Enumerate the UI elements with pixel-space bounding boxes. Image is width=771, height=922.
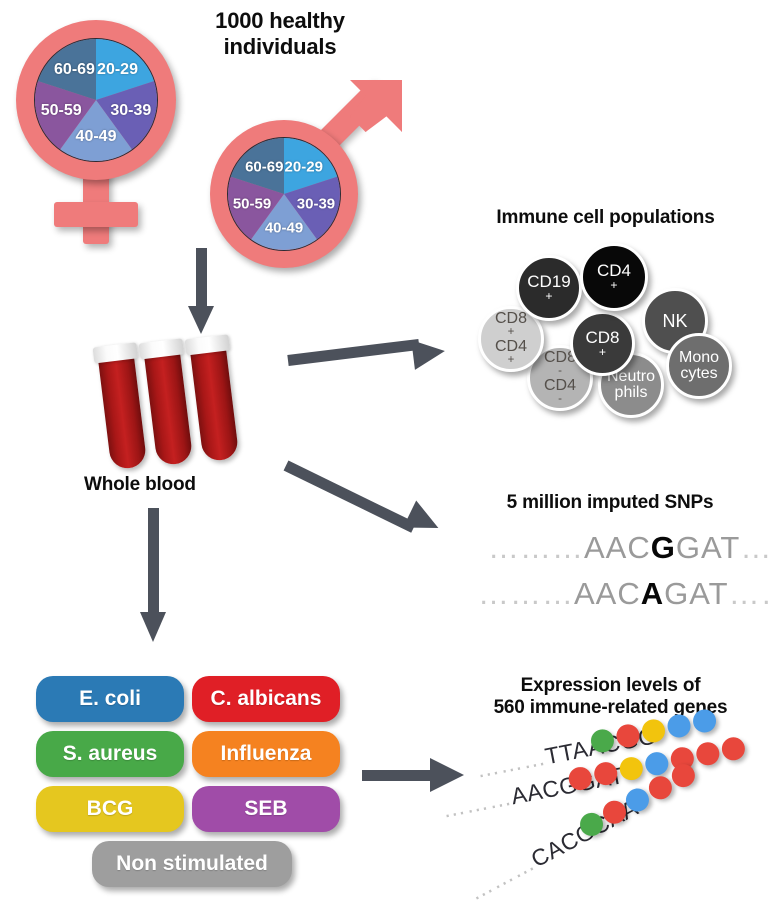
- snp-ellipsis-left: ………: [488, 530, 584, 565]
- snp-variant-allele: A: [641, 576, 664, 611]
- snp-ellipsis-right: ………: [740, 530, 771, 565]
- snps-title: 5 million imputed SNPs: [450, 492, 770, 514]
- immune-cell-monocytes: Monocytes: [666, 333, 732, 399]
- immune-cell-line: CD19+: [527, 273, 570, 303]
- figure-canvas: 1000 healthyindividuals 20-2930-3940-495…: [0, 0, 771, 922]
- sequence-ellipsis: ………: [440, 784, 514, 823]
- snp-suffix: GAT: [676, 530, 740, 565]
- stimulus-label: S. aureus: [63, 742, 158, 766]
- immune-cell-line: CD8+: [585, 329, 619, 359]
- snp-prefix: AAC: [584, 530, 651, 565]
- stimulus-label: BCG: [87, 797, 134, 821]
- stimulus-button-non-stimulated[interactable]: Non stimulated: [92, 841, 292, 887]
- snp-prefix: AAC: [574, 576, 641, 611]
- immune-cell-cd8: CD8+: [570, 311, 635, 376]
- immune-cell-cd4: CD4+: [580, 243, 648, 311]
- immune-cell-line: cytes: [679, 366, 719, 382]
- immune-cell-line: CD4+: [495, 339, 527, 367]
- immune-cell-line: Mono: [679, 350, 719, 366]
- stimulus-label: Influenza: [220, 742, 311, 766]
- stimulus-button-e-coli[interactable]: E. coli: [36, 676, 184, 722]
- snp-suffix: GAT: [664, 576, 728, 611]
- expression-strands: ………TTAACGG………AACGGAT………CACGCAA: [440, 710, 771, 922]
- stimulation-panel: E. coliC. albicansS. aureusInfluenzaBCGS…: [0, 0, 380, 922]
- stimulus-label: SEB: [244, 797, 287, 821]
- snp-sequence-allele-a: ………AACAGAT………: [478, 576, 771, 612]
- expression-bead-blue: [691, 708, 718, 735]
- snp-ellipsis-left: ………: [478, 576, 574, 611]
- stimulus-button-s-aureus[interactable]: S. aureus: [36, 731, 184, 777]
- sequence-ellipsis: ………: [464, 849, 538, 905]
- stimulus-button-seb[interactable]: SEB: [192, 786, 340, 832]
- immune-cell-line: CD4-: [544, 378, 576, 406]
- immune-cell-line: CD8+: [495, 311, 527, 339]
- snp-variant-allele: G: [651, 530, 676, 565]
- snp-sequence-allele-g: ………AACGGAT………: [488, 530, 771, 566]
- stimulus-button-bcg[interactable]: BCG: [36, 786, 184, 832]
- immune-cell-line: phils: [607, 385, 655, 401]
- expression-bead-blue: [666, 712, 693, 739]
- immune-cell-line: NK: [662, 312, 687, 330]
- stimulus-label: E. coli: [79, 687, 141, 711]
- immune-cell-cd19: CD19+: [516, 255, 582, 321]
- snp-ellipsis-right: ………: [729, 576, 771, 611]
- snp-sequences: ………AACGGAT………………AACAGAT………: [478, 530, 758, 620]
- stimulus-button-influenza[interactable]: Influenza: [192, 731, 340, 777]
- immune-cell-line: CD4+: [597, 262, 631, 292]
- stimulus-label: Non stimulated: [116, 852, 268, 876]
- expression-bead-red: [720, 735, 747, 762]
- stimulus-button-c-albicans[interactable]: C. albicans: [192, 676, 340, 722]
- stimulus-label: C. albicans: [211, 687, 322, 711]
